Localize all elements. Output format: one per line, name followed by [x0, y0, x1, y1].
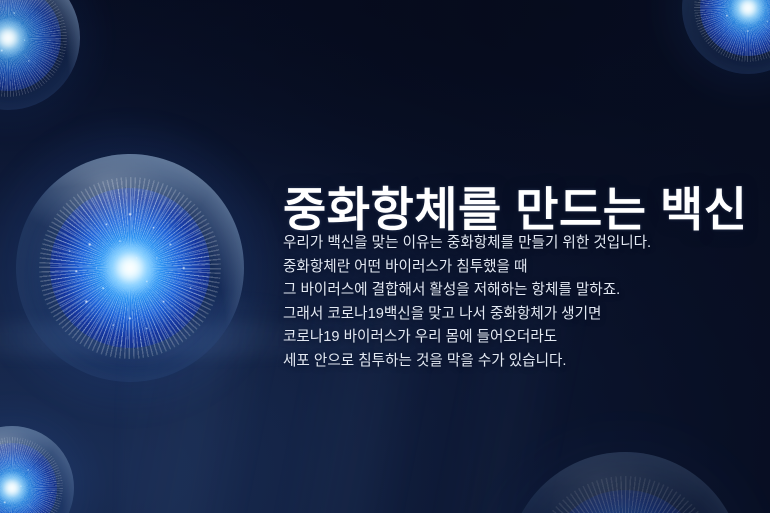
page-title: 중화항체를 만드는 백신	[283, 185, 748, 236]
paragraph-line: 세포 안으로 침투하는 것을 막을 수가 있습니다.	[283, 350, 713, 374]
paragraph-line: 코로나19 바이러스가 우리 몸에 들어오더라도	[283, 326, 713, 350]
vaccine-infographic-slide: 중화항체를 만드는 백신 우리가 백신을 맞는 이유는 중화항체를 만들기 위한…	[0, 0, 770, 513]
paragraph-line: 그래서 코로나19백신을 맞고 나서 중화항체가 생기면	[283, 303, 713, 327]
paragraph-line: 그 바이러스에 결합해서 활성을 저해하는 항체를 말하죠.	[283, 279, 713, 303]
paragraph-line: 중화항체란 어떤 바이러스가 침투했을 때	[283, 256, 713, 280]
paragraph-line: 우리가 백신을 맞는 이유는 중화항체를 만들기 위한 것입니다.	[283, 232, 713, 256]
description-paragraph: 우리가 백신을 맞는 이유는 중화항체를 만들기 위한 것입니다. 중화항체란 …	[283, 232, 713, 374]
